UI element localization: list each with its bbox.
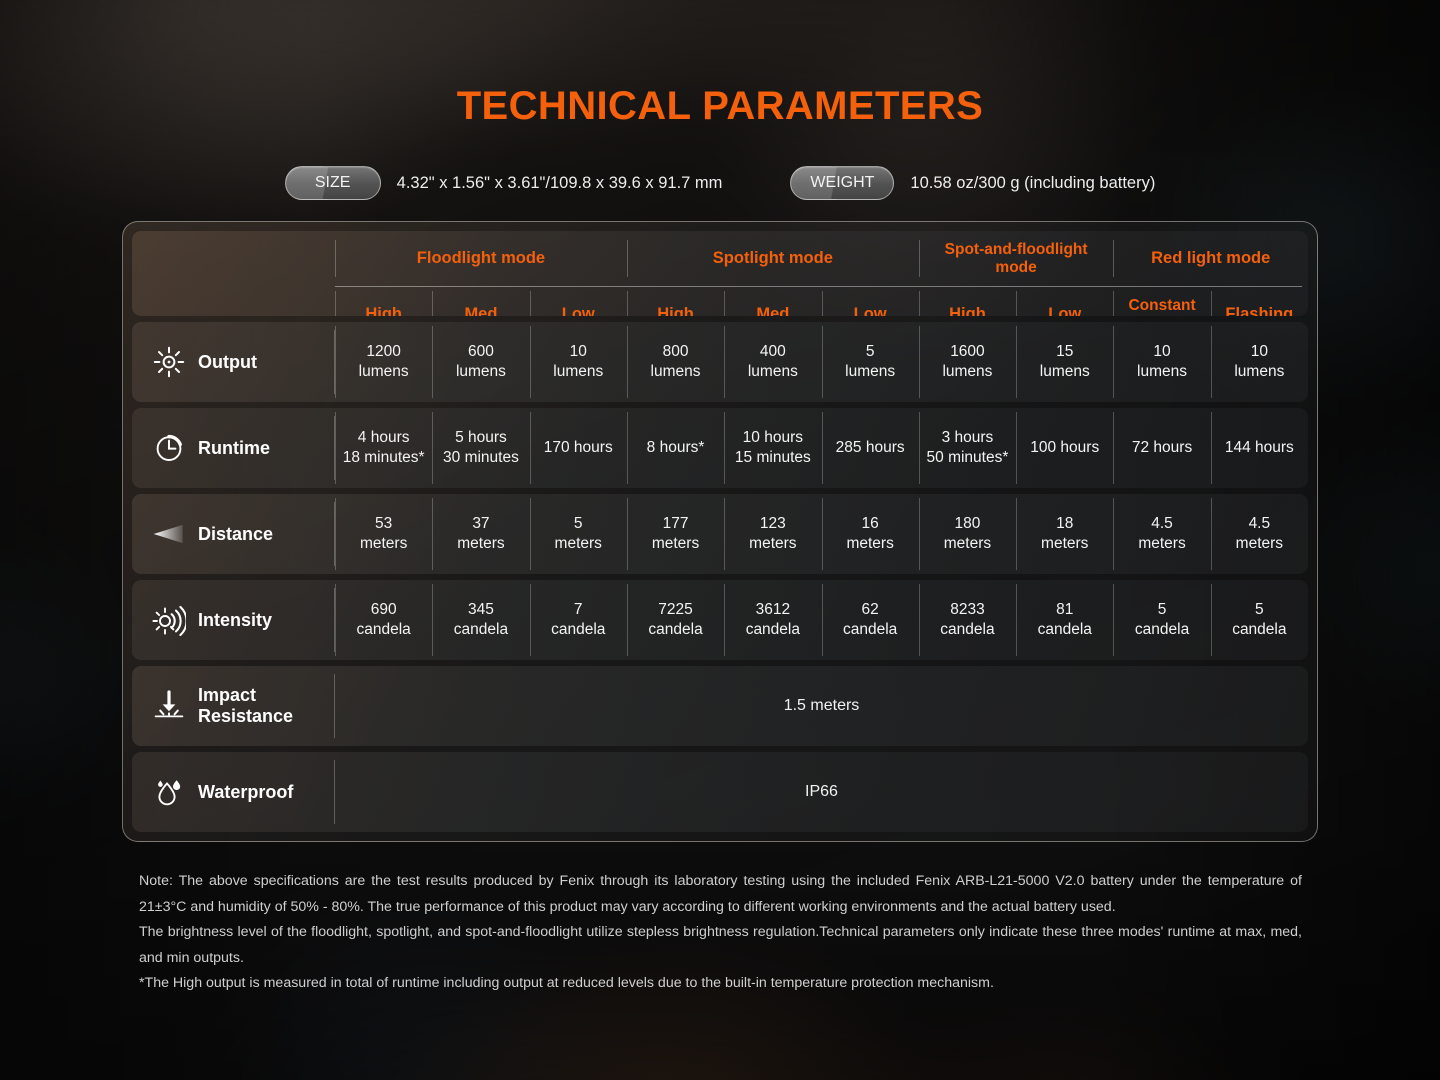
- mode-level-header: High: [627, 287, 724, 316]
- note-2: The brightness level of the floodlight, …: [139, 920, 1302, 971]
- table-body: Output1200lumens600lumens10lumens800lume…: [132, 322, 1308, 832]
- table-cell: 10 hours15 minutes: [724, 408, 821, 488]
- row-label-text: Output: [198, 352, 257, 373]
- table-cell: 5candela: [1211, 580, 1308, 660]
- mode-level-header: Flashing: [1211, 287, 1308, 316]
- mode-level-header: Low: [530, 287, 627, 316]
- row-label-runtime: Runtime: [132, 408, 335, 488]
- table-header: Floodlight modeSpotlight modeSpot-and-fl…: [132, 231, 1308, 316]
- table-row: Distance53meters37meters5meters177meters…: [132, 494, 1308, 574]
- table-cell: 4.5meters: [1211, 494, 1308, 574]
- impact-icon: [152, 689, 186, 723]
- table-cell: 7225candela: [627, 580, 724, 660]
- mode-level-header-row: HighMedLowHighMedLowHighLowConstant-onFl…: [132, 287, 1308, 316]
- weight-spec: WEIGHT 10.58 oz/300 g (including battery…: [790, 166, 1155, 200]
- row-label-text: Intensity: [198, 610, 272, 631]
- table-cell: 400lumens: [724, 322, 821, 402]
- table-cell: 8233candela: [919, 580, 1016, 660]
- header-corner-spacer: [132, 287, 335, 316]
- table-cell: 1600lumens: [919, 322, 1016, 402]
- table-cell: 5candela: [1113, 580, 1210, 660]
- table-cell: 15lumens: [1016, 322, 1113, 402]
- weight-value: 10.58 oz/300 g (including battery): [910, 174, 1155, 193]
- table-cell: 62candela: [822, 580, 919, 660]
- table-cell: 4.5meters: [1113, 494, 1210, 574]
- table-cell: 16meters: [822, 494, 919, 574]
- table-cell: 37meters: [432, 494, 529, 574]
- table-cell: 123meters: [724, 494, 821, 574]
- mode-group-header: Red light mode: [1113, 231, 1308, 286]
- spec-sheet-page: TECHNICAL PARAMETERS SIZE 4.32" x 1.56" …: [0, 0, 1440, 1080]
- size-value: 4.32" x 1.56" x 3.61"/109.8 x 39.6 x 91.…: [397, 174, 723, 193]
- table-cell: 100 hours: [1016, 408, 1113, 488]
- table-row: WaterproofIP66: [132, 752, 1308, 832]
- table-cell: 8 hours*: [627, 408, 724, 488]
- mode-group-header: Floodlight mode: [335, 231, 627, 286]
- table-cell: 72 hours: [1113, 408, 1210, 488]
- mode-level-header: High: [919, 287, 1016, 316]
- intensity-icon: [152, 603, 186, 637]
- clock-icon: [152, 431, 186, 465]
- footnotes: Note: The above specifications are the t…: [139, 869, 1302, 997]
- table-cell: 5lumens: [822, 322, 919, 402]
- header-corner-spacer: [132, 231, 335, 286]
- table-cell-merged: IP66: [335, 752, 1308, 832]
- table-cell: 10lumens: [1211, 322, 1308, 402]
- row-label-waterproof: Waterproof: [132, 752, 335, 832]
- table-cell: 5 hours30 minutes: [432, 408, 529, 488]
- mode-level-header: Low: [822, 287, 919, 316]
- row-label-text: ImpactResistance: [198, 685, 293, 727]
- mode-level-header: Med: [724, 287, 821, 316]
- weight-badge: WEIGHT: [790, 166, 894, 200]
- mode-level-header: Constant-on: [1113, 287, 1210, 316]
- row-label-text: Waterproof: [198, 782, 293, 803]
- note-1: Note: The above specifications are the t…: [139, 869, 1302, 920]
- table-cell: 3612candela: [724, 580, 821, 660]
- note-3: *The High output is measured in total of…: [139, 971, 1302, 997]
- row-label-text: Runtime: [198, 438, 270, 459]
- table-cell-merged: 1.5 meters: [335, 666, 1308, 746]
- mode-level-header: Low: [1016, 287, 1113, 316]
- mode-group-header: Spotlight mode: [627, 231, 919, 286]
- mode-group-header: Spot-and-floodlight mode: [919, 231, 1114, 286]
- specifications-table: Floodlight modeSpotlight modeSpot-and-fl…: [122, 221, 1318, 842]
- mode-level-header: High: [335, 287, 432, 316]
- sun-icon: [152, 345, 186, 379]
- waterdrop-icon: [152, 775, 186, 809]
- page-title: TECHNICAL PARAMETERS: [0, 84, 1440, 129]
- table-cell: 170 hours: [530, 408, 627, 488]
- mode-group-header-row: Floodlight modeSpotlight modeSpot-and-fl…: [132, 231, 1308, 286]
- table-row: ImpactResistance1.5 meters: [132, 666, 1308, 746]
- table-cell: 3 hours50 minutes*: [919, 408, 1016, 488]
- table-cell: 180meters: [919, 494, 1016, 574]
- table-cell: 345candela: [432, 580, 529, 660]
- size-badge: SIZE: [285, 166, 381, 200]
- beam-icon: [152, 517, 186, 551]
- row-label-distance: Distance: [132, 494, 335, 574]
- table-row: Runtime4 hours18 minutes*5 hours30 minut…: [132, 408, 1308, 488]
- table-row: Output1200lumens600lumens10lumens800lume…: [132, 322, 1308, 402]
- row-label-text: Distance: [198, 524, 273, 545]
- mode-level-header: Med: [432, 287, 529, 316]
- row-label-intensity: Intensity: [132, 580, 335, 660]
- row-label-output: Output: [132, 322, 335, 402]
- table-cell: 800lumens: [627, 322, 724, 402]
- table-cell: 10lumens: [530, 322, 627, 402]
- table-cell: 144 hours: [1211, 408, 1308, 488]
- table-cell: 81candela: [1016, 580, 1113, 660]
- table-cell: 1200lumens: [335, 322, 432, 402]
- size-weight-strip: SIZE 4.32" x 1.56" x 3.61"/109.8 x 39.6 …: [0, 166, 1440, 200]
- size-spec: SIZE 4.32" x 1.56" x 3.61"/109.8 x 39.6 …: [285, 166, 723, 200]
- table-row: Intensity690candela345candela7candela722…: [132, 580, 1308, 660]
- table-cell: 7candela: [530, 580, 627, 660]
- table-cell: 4 hours18 minutes*: [335, 408, 432, 488]
- table-cell: 600lumens: [432, 322, 529, 402]
- table-cell: 690candela: [335, 580, 432, 660]
- table-cell: 5meters: [530, 494, 627, 574]
- table-cell: 18meters: [1016, 494, 1113, 574]
- table-cell: 10lumens: [1113, 322, 1210, 402]
- table-cell: 177meters: [627, 494, 724, 574]
- row-label-impact-resistance: ImpactResistance: [132, 666, 335, 746]
- table-cell: 53meters: [335, 494, 432, 574]
- table-cell: 285 hours: [822, 408, 919, 488]
